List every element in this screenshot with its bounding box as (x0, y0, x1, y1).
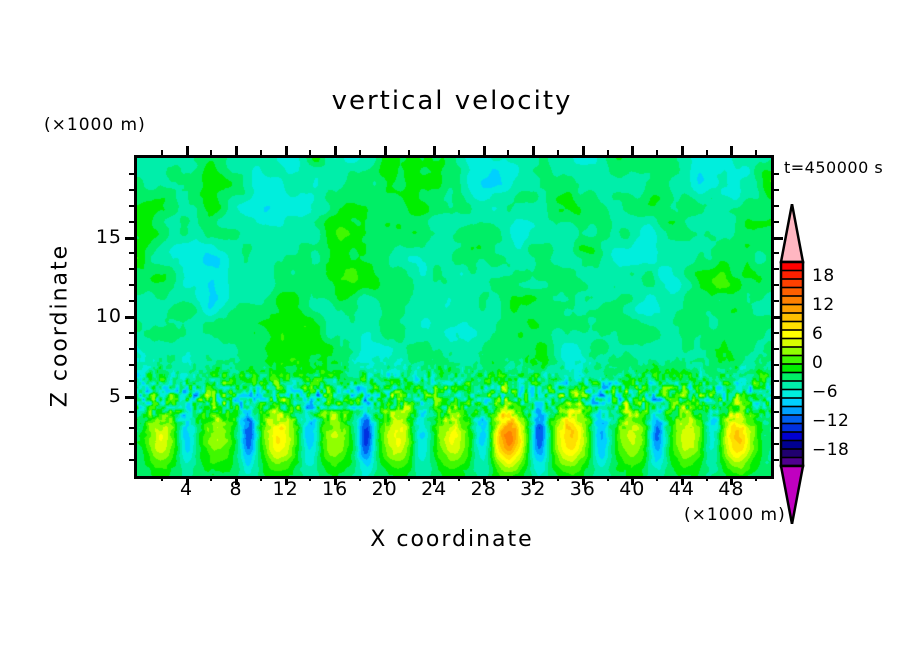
x-major-tick-top (483, 146, 486, 155)
x-minor-tick-top (161, 150, 163, 155)
colorbar-band (781, 415, 803, 424)
colorbar-over-arrow (781, 204, 803, 262)
x-minor-tick-top (359, 150, 361, 155)
y-minor-tick-right (774, 189, 779, 191)
y-minor-tick (129, 364, 134, 366)
x-tick-label: 48 (701, 478, 761, 500)
colorbar-band (781, 339, 803, 348)
y-minor-tick (129, 284, 134, 286)
x-major-tick-top (532, 146, 535, 155)
axis-ticks: 481216202428323640444851015 (0, 0, 904, 654)
y-minor-tick (129, 252, 134, 254)
x-minor-tick-top (260, 150, 262, 155)
y-minor-tick (129, 443, 134, 445)
y-minor-tick (129, 380, 134, 382)
colorbar-under-arrow (781, 466, 803, 524)
y-minor-tick (129, 459, 134, 461)
colorbar-band (781, 288, 803, 297)
colorbar-band (781, 398, 803, 407)
x-minor-tick-top (210, 150, 212, 155)
colorbar-band (781, 330, 803, 339)
colorbar-band (781, 305, 803, 314)
colorbar-band (781, 279, 803, 288)
x-minor-tick (408, 476, 410, 481)
y-tick-label: 5 (82, 385, 122, 407)
x-major-tick-top (631, 146, 634, 155)
colorbar-band (781, 313, 803, 322)
x-axis-title: X coordinate (0, 527, 904, 552)
x-major-tick-top (285, 146, 288, 155)
x-major-tick-top (582, 146, 585, 155)
x-major-tick-top (433, 146, 436, 155)
x-minor-tick-top (408, 150, 410, 155)
x-minor-tick-top (507, 150, 509, 155)
y-minor-tick (129, 268, 134, 270)
x-minor-tick (210, 476, 212, 481)
x-minor-tick-top (557, 150, 559, 155)
x-major-tick-top (730, 146, 733, 155)
colorbar-swatches (779, 204, 805, 524)
x-major-tick-top (186, 146, 189, 155)
x-minor-tick (607, 476, 609, 481)
x-major-tick-top (334, 146, 337, 155)
x-major-tick-top (384, 146, 387, 155)
colorbar-band (781, 432, 803, 441)
y-tick-label: 15 (82, 226, 122, 248)
x-minor-tick-top (309, 150, 311, 155)
y-minor-tick (129, 427, 134, 429)
x-major-tick-top (681, 146, 684, 155)
colorbar-band (781, 356, 803, 365)
y-major-tick (125, 237, 134, 240)
x-minor-tick (557, 476, 559, 481)
x-minor-tick (656, 476, 658, 481)
colorbar-tick-label: −12 (812, 411, 849, 431)
colorbar-band (781, 262, 803, 271)
y-minor-tick (129, 300, 134, 302)
colorbar-tick-label: −18 (812, 440, 849, 460)
colorbar-band (781, 390, 803, 399)
colorbar-band (781, 424, 803, 433)
x-minor-tick (260, 476, 262, 481)
x-minor-tick-top (706, 150, 708, 155)
y-minor-tick (129, 348, 134, 350)
x-minor-tick-top (607, 150, 609, 155)
colorbar-band (781, 322, 803, 331)
colorbar-band (781, 407, 803, 416)
x-minor-tick (161, 476, 163, 481)
x-minor-tick (359, 476, 361, 481)
colorbar-tick-label: 18 (812, 266, 835, 286)
colorbar-band (781, 364, 803, 373)
x-minor-tick-top (656, 150, 658, 155)
y-major-tick (125, 396, 134, 399)
x-minor-tick (458, 476, 460, 481)
figure-canvas: vertical velocity (×1000 m) t=450000 s 4… (0, 0, 904, 654)
y-minor-tick (129, 411, 134, 413)
y-axis-title: Z coordinate (48, 226, 73, 426)
y-minor-tick (129, 332, 134, 334)
y-minor-tick (129, 189, 134, 191)
x-minor-tick (706, 476, 708, 481)
colorbar-tick-label: 0 (812, 353, 823, 373)
y-minor-tick (129, 205, 134, 207)
x-minor-tick (507, 476, 509, 481)
y-major-tick (125, 316, 134, 319)
x-minor-tick (755, 476, 757, 481)
y-minor-tick (129, 173, 134, 175)
colorbar-tick-label: 6 (812, 324, 823, 344)
x-minor-tick (309, 476, 311, 481)
colorbar-tick-label: −6 (812, 382, 838, 402)
colorbar-band (781, 441, 803, 450)
x-minor-tick-top (755, 150, 757, 155)
x-minor-tick-top (458, 150, 460, 155)
x-axis-units-label: (×1000 m) (684, 505, 786, 525)
colorbar-tick-label: 12 (812, 295, 835, 315)
colorbar-band (781, 381, 803, 390)
y-minor-tick-right (774, 173, 779, 175)
colorbar-band (781, 296, 803, 305)
colorbar (779, 204, 805, 524)
y-tick-label: 10 (82, 305, 122, 327)
colorbar-band (781, 373, 803, 382)
x-major-tick-top (235, 146, 238, 155)
colorbar-band (781, 271, 803, 280)
y-minor-tick (129, 221, 134, 223)
colorbar-band (781, 449, 803, 458)
colorbar-band (781, 347, 803, 356)
